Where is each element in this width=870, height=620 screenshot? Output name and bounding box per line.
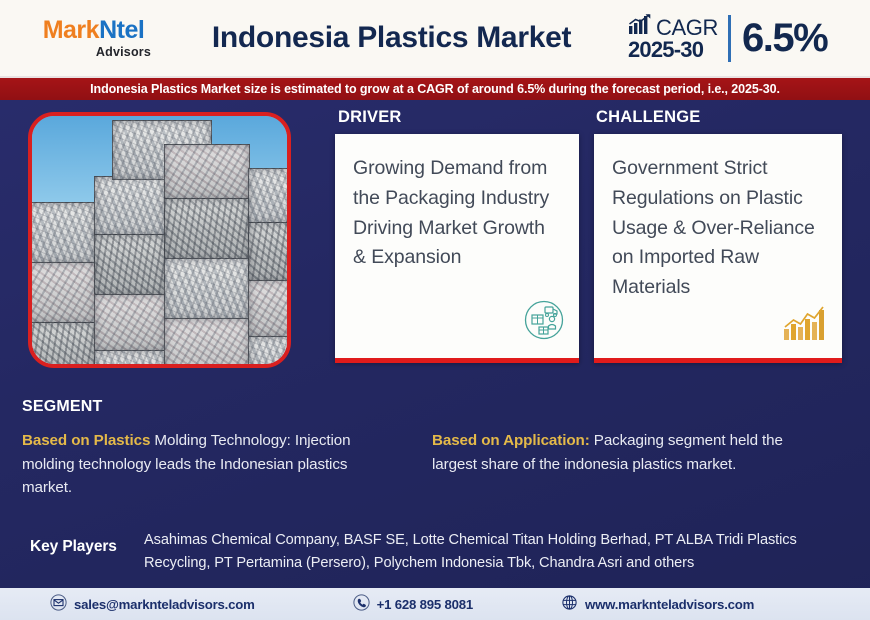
segment-title: SEGMENT <box>22 398 103 416</box>
cagr-label-row: CAGR <box>628 14 718 40</box>
cagr-divider <box>728 15 731 62</box>
segment-key-application: Based on Application: <box>432 432 590 449</box>
headline-banner: Indonesia Plastics Market size is estima… <box>0 76 870 100</box>
bar-chart-growth-icon <box>782 305 828 346</box>
footer-phone[interactable]: +1 628 895 8081 <box>353 594 473 614</box>
cagr-left-group: CAGR 2025-30 <box>628 14 728 63</box>
segment-column-plastics: Based on Plastics Molding Technology: In… <box>22 429 382 500</box>
page-title: Indonesia Plastics Market <box>165 21 628 55</box>
banner-text: Indonesia Plastics Market size is estima… <box>90 82 780 96</box>
cagr-value: 6.5% <box>742 16 827 61</box>
segment-key-plastics: Based on Plastics <box>22 432 150 449</box>
cagr-label: CAGR <box>656 17 718 40</box>
company-logo[interactable]: MarkNtel Advisors <box>0 18 165 59</box>
packaging-delivery-circle-icon <box>523 299 565 346</box>
segment-column-application: Based on Application: Packaging segment … <box>432 429 812 476</box>
driver-card: Growing Demand from the Packaging Indust… <box>335 134 579 363</box>
footer-phone-text: +1 628 895 8081 <box>377 597 473 612</box>
logo-subtitle: Advisors <box>96 46 165 59</box>
logo-wordmark: MarkNtel <box>43 18 145 43</box>
driver-card-text: Growing Demand from the Packaging Indust… <box>353 154 559 273</box>
logo-text-mark: Mark <box>43 16 99 44</box>
bar-chart-arrow-icon <box>628 14 652 40</box>
challenge-card-text: Government Strict Regulations on Plastic… <box>612 154 822 303</box>
footer-website-text: www.marknteladvisors.com <box>585 597 754 612</box>
challenge-card: Government Strict Regulations on Plastic… <box>594 134 842 363</box>
footer-email[interactable]: sales@marknteladvisors.com <box>50 594 255 614</box>
phone-icon <box>353 594 370 614</box>
market-photo <box>28 112 291 368</box>
key-players-label: Key Players <box>30 538 117 556</box>
header-bar: MarkNtel Advisors Indonesia Plastics Mar… <box>0 0 870 76</box>
driver-heading: DRIVER <box>338 108 402 127</box>
key-players-text: Asahimas Chemical Company, BASF SE, Lott… <box>144 529 824 574</box>
envelope-icon <box>50 594 67 614</box>
globe-icon <box>561 594 578 614</box>
footer-website[interactable]: www.marknteladvisors.com <box>561 594 754 614</box>
logo-text-ntel: Ntel <box>99 16 144 44</box>
footer-email-text: sales@marknteladvisors.com <box>74 597 255 612</box>
cagr-years: 2025-30 <box>628 39 718 62</box>
infographic-poster: MarkNtel Advisors Indonesia Plastics Mar… <box>0 0 870 620</box>
cagr-badge: CAGR 2025-30 6.5% <box>628 8 870 68</box>
challenge-heading: CHALLENGE <box>596 108 700 127</box>
footer-bar: sales@marknteladvisors.com +1 628 895 80… <box>0 588 870 620</box>
